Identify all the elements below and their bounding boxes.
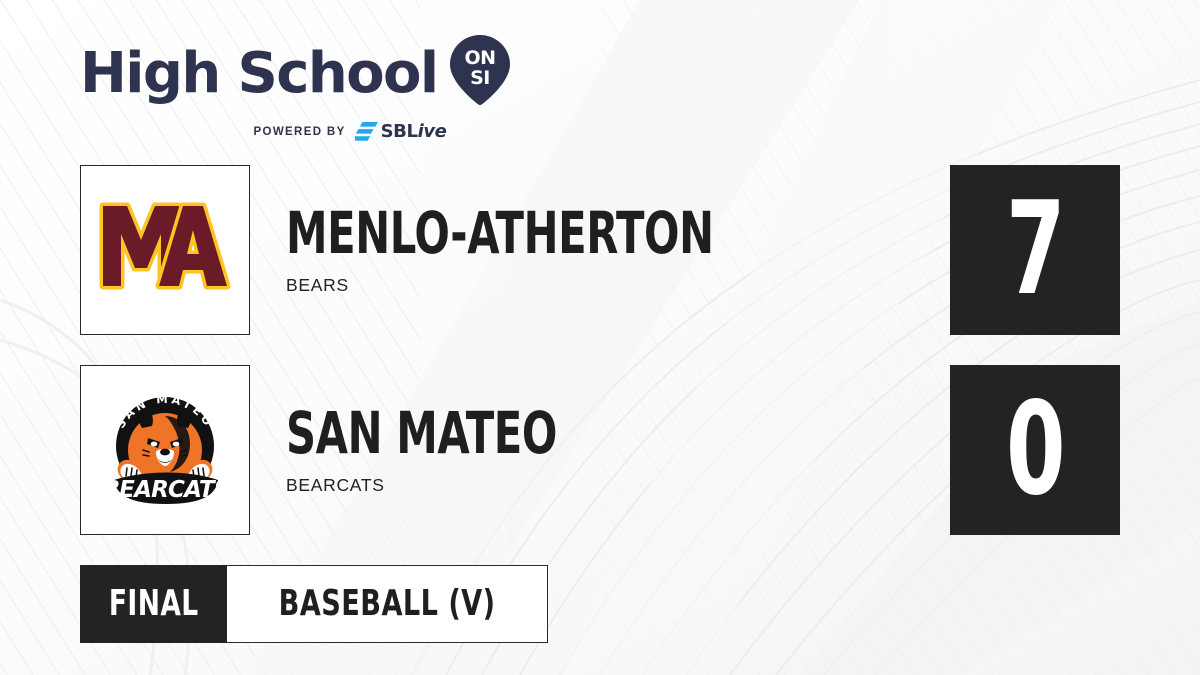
status-badge: FINAL [80, 565, 227, 643]
sport-label-box: BASEBALL (V) [227, 565, 548, 643]
pin-bottom-label: SI [471, 67, 491, 89]
powered-by-row: POWERED BY SBLive [80, 122, 510, 141]
team-text-block: SAN MATEO BEARCATS [286, 365, 625, 535]
sblive-s-mark [355, 122, 378, 141]
on-si-pin-icon: ON SI [449, 34, 511, 111]
team-name: MENLO-ATHERTON [286, 204, 714, 262]
bear-head [139, 412, 191, 472]
bearcats-mascot-icon: SAN MATEO [96, 384, 234, 516]
team-text-block: MENLO-ATHERTON BEARS [286, 165, 821, 335]
team-name: SAN MATEO [286, 404, 557, 462]
pin-top-label: ON [465, 47, 496, 69]
status-badge-label: FINAL [109, 586, 199, 622]
team-mascot: BEARCATS [286, 475, 625, 496]
score-value: 7 [1006, 186, 1064, 314]
sport-label: BASEBALL (V) [279, 586, 496, 622]
team-logo-menlo-atherton [80, 165, 250, 335]
powered-by-label: POWERED BY [254, 126, 346, 138]
score-box-team-1: 7 [950, 165, 1120, 335]
brand-title-row: High School ON SI [80, 36, 510, 111]
logo-wordmark: BEARCATS [102, 477, 229, 503]
sblive-wordmark: SBLive [381, 123, 447, 141]
brand-logo: High School ON SI POWERED BY SBLive [80, 36, 510, 141]
ma-monogram-icon [99, 184, 231, 316]
status-bar: FINAL BASEBALL (V) [80, 565, 548, 643]
sblive-logo: SBLive [355, 122, 447, 141]
team-logo-san-mateo: SAN MATEO [80, 365, 250, 535]
team-mascot: BEARS [286, 275, 821, 296]
score-value: 0 [1006, 386, 1064, 514]
score-box-team-2: 0 [950, 365, 1120, 535]
page-title: High School [80, 46, 437, 102]
